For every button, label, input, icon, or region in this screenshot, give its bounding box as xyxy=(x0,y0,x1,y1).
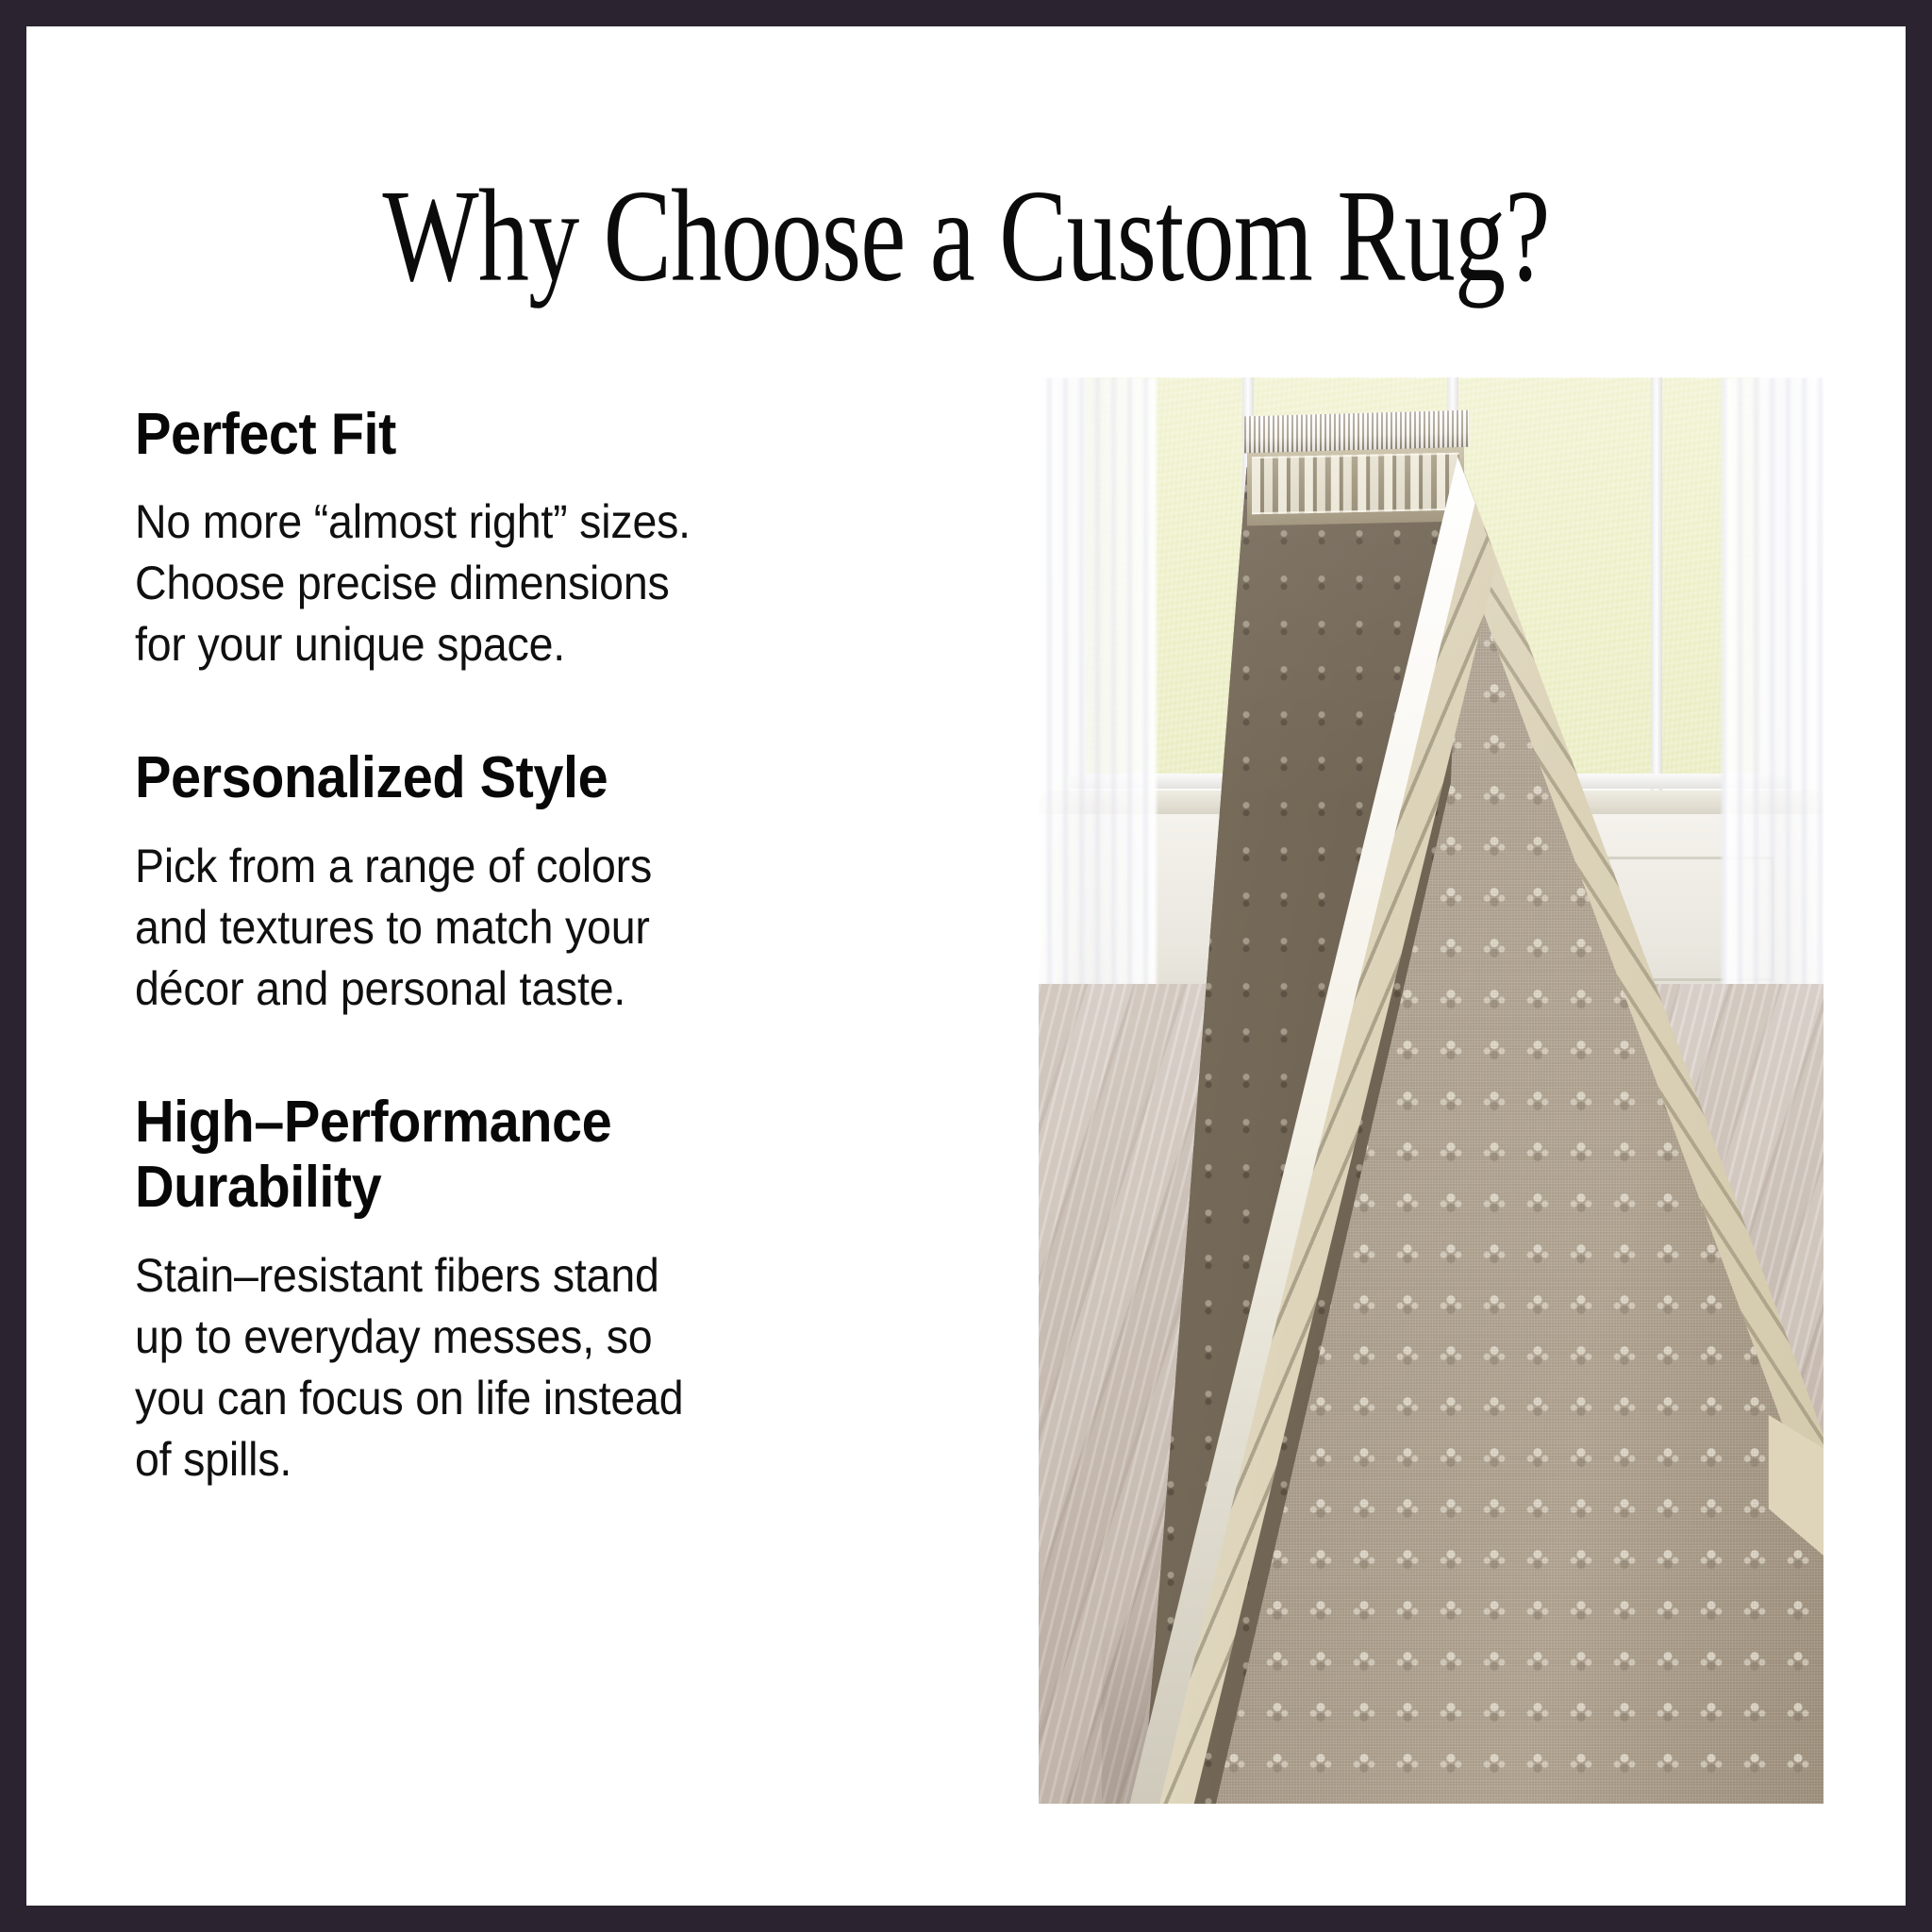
sheer-curtain-right xyxy=(1722,377,1824,1034)
feature-heading: High–Performance Durability xyxy=(135,1090,855,1221)
rug-photo xyxy=(1039,377,1824,1804)
window-mullion-vertical xyxy=(1651,377,1662,798)
poster-frame: Why Choose a Custom Rug? Perfect Fit No … xyxy=(26,26,1906,1906)
feature-body: Pick from a range of colors and textures… xyxy=(135,836,855,1020)
page-title: Why Choose a Custom Rug? xyxy=(195,170,1736,302)
feature-heading: Personalized Style xyxy=(135,745,855,810)
feature-body: No more “almost right” sizes. Choose pre… xyxy=(135,491,855,675)
sheer-curtain-left xyxy=(1039,377,1157,1034)
feature-item-perfect-fit: Perfect Fit No more “almost right” sizes… xyxy=(135,402,908,675)
rug-decorative-band-top xyxy=(1247,441,1464,525)
feature-heading: Perfect Fit xyxy=(135,402,855,467)
feature-item-high-performance-durability: High–Performance Durability Stain–resist… xyxy=(135,1090,908,1491)
feature-list: Perfect Fit No more “almost right” sizes… xyxy=(135,402,908,1491)
feature-item-personalized-style: Personalized Style Pick from a range of … xyxy=(135,745,908,1019)
rug-bound-edge-top xyxy=(1244,409,1469,453)
feature-body: Stain–resistant fibers stand up to every… xyxy=(135,1245,855,1491)
